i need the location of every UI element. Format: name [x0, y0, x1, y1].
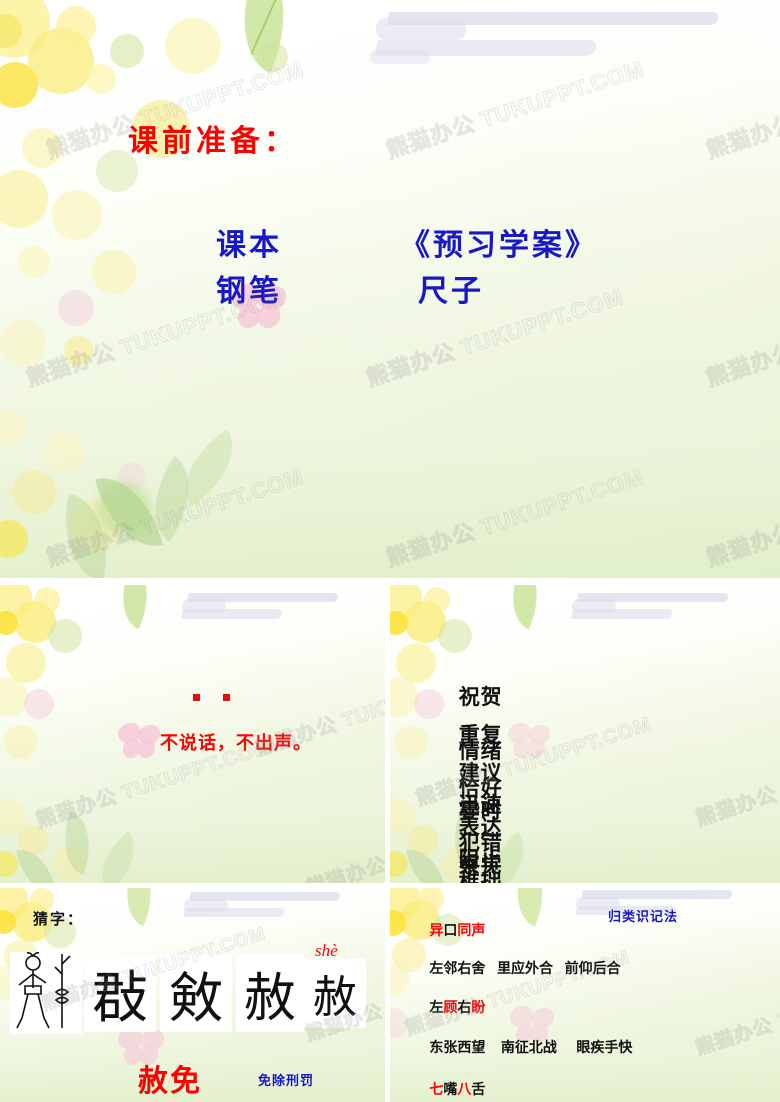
idiom-char: 八 — [457, 1081, 471, 1097]
slide-1-item-2-right: 尺子 — [418, 266, 484, 310]
idiom-text: 左邻右舍 里应外合 前仰后合 — [429, 960, 620, 976]
idiom-char: 七 — [429, 1081, 443, 1097]
slide-4-meaning: 免除刑罚 — [258, 1070, 314, 1089]
slide-5[interactable]: 归类识记法 异口同声 左邻右舍 里应外合 前仰后合 左顾右盼 东张西望 南征北战… — [390, 888, 780, 1102]
slide-4-answer: 赦免 — [138, 1056, 202, 1100]
slide-4-label: 猜字： — [33, 908, 84, 929]
idiom-char: 右 — [457, 999, 471, 1015]
butterfly-icon — [118, 723, 162, 761]
slide-1[interactable]: 课前准备： 课本 《预习学案》 钢笔 尺子 熊猫办公 TUKUPPT.COM 熊… — [0, 0, 780, 578]
slide-preview-page: 课前准备： 课本 《预习学案》 钢笔 尺子 熊猫办公 TUKUPPT.COM 熊… — [0, 0, 780, 1102]
slide-1-item-2-left: 钢笔 — [216, 266, 282, 310]
idiom-char: 顾 — [443, 999, 457, 1015]
idiom-char: 舌 — [471, 1081, 485, 1097]
slide-2[interactable]: 可贵的沉默 不说话，不出声。 熊猫办公 TUKUPPT.COM 熊猫办公 TUK… — [0, 585, 385, 883]
idiom-char: 同 — [457, 922, 471, 938]
evolution-glyph-4: 赦 — [304, 958, 366, 1028]
idiom-char: 盼 — [471, 999, 485, 1015]
slide-1-title: 课前准备： — [128, 116, 298, 160]
evolution-glyph-3: 赦 — [236, 954, 304, 1032]
idiom-char: 口 — [443, 922, 457, 938]
ancient-pictograph-svg — [10, 952, 82, 1034]
idiom-char: 嘴 — [443, 1081, 457, 1097]
pictograph-image — [10, 952, 82, 1034]
slide-1-item-1-left: 课本 — [216, 220, 282, 264]
vocab-cell: 霎时 — [459, 800, 503, 823]
emphasis-dot — [223, 694, 230, 701]
evolution-glyph-1: 㪊 — [84, 954, 156, 1032]
slide-5-heading: 归类识记法 — [608, 906, 678, 925]
vocab-row: 霎时 察觉 瞥一下 — [404, 771, 525, 883]
idiom-char: 异 — [429, 922, 443, 938]
butterfly-icon — [508, 723, 552, 761]
slide-1-item-1-right: 《预习学案》 — [400, 220, 598, 264]
slide-2-subtitle: 不说话，不出声。 — [160, 729, 312, 755]
slide-3[interactable]: 祝贺 情绪 迅速 阻止 重复 恰好 犯错 外婆 建议 表达 — [390, 585, 780, 883]
evolution-glyph-2: 㪘 — [160, 954, 232, 1032]
idiom-text: 东张西望 南征北战 眼疾手快 — [429, 1039, 632, 1055]
idiom-line-5: 七嘴八舌 — [406, 1063, 485, 1102]
idiom-char: 左 — [429, 999, 443, 1015]
emphasis-dot — [193, 694, 200, 701]
vocab-cell: 察觉 — [459, 854, 503, 877]
slide-4[interactable]: 猜字： shè 㪊 㪘 — [0, 888, 385, 1102]
idiom-char: 声 — [471, 922, 485, 938]
